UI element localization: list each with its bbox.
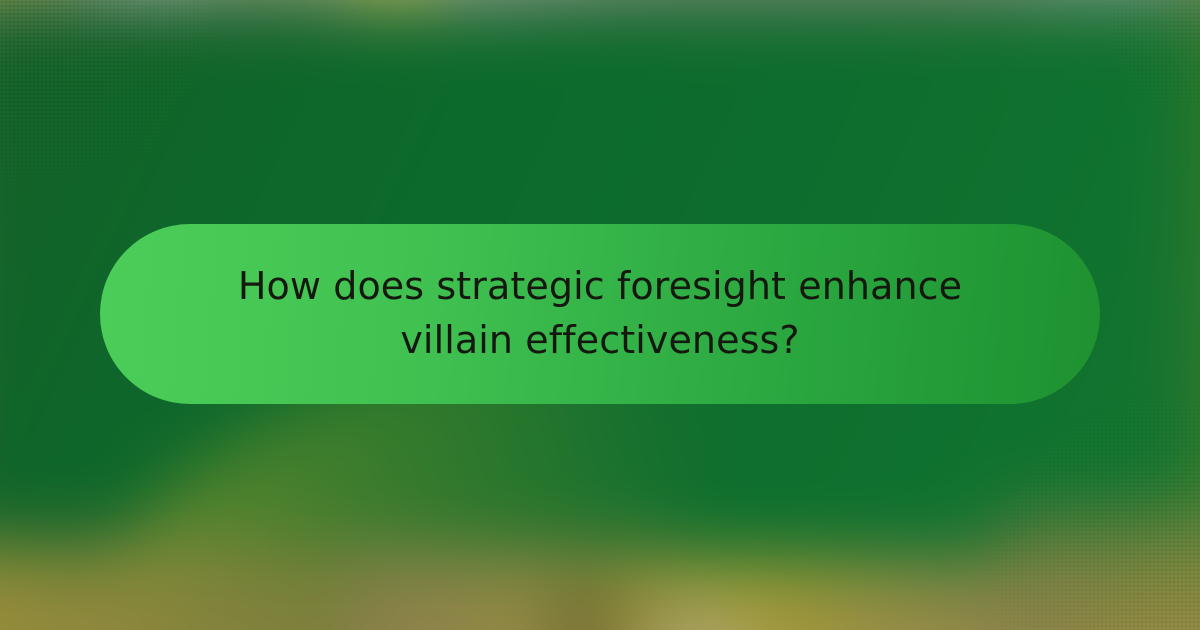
question-text: How does strategic foresight enhance vil…	[210, 260, 990, 368]
question-card[interactable]: How does strategic foresight enhance vil…	[100, 224, 1100, 404]
screenshot-canvas: How does strategic foresight enhance vil…	[0, 0, 1200, 630]
